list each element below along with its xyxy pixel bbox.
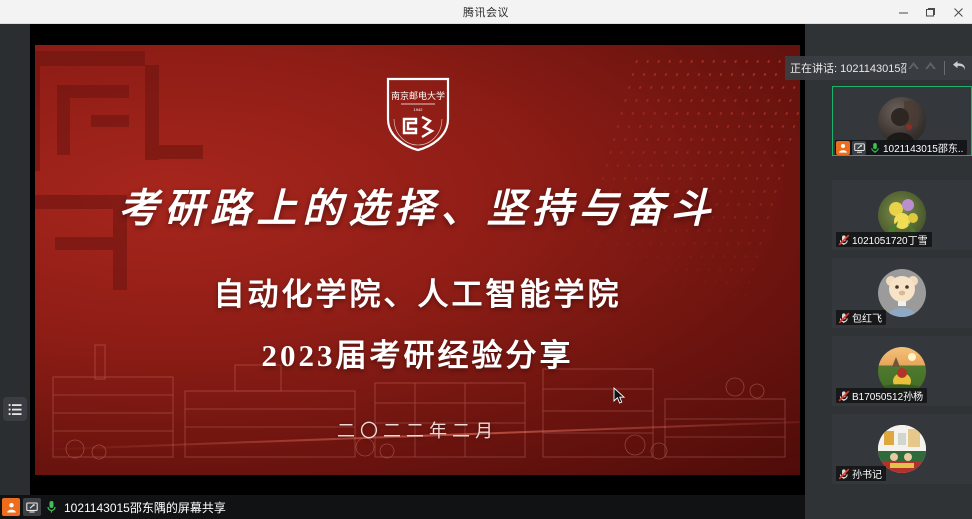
- slide-main-title: 考研路上的选择、坚持与奋斗: [35, 176, 800, 234]
- window-controls: [890, 0, 972, 24]
- chevron-icon[interactable]: [907, 59, 920, 77]
- microphone-muted-icon: [837, 389, 850, 402]
- screen-share-status-bar: 1021143015邵东隅的屏幕共享: [0, 495, 805, 519]
- microphone-icon: [868, 141, 881, 154]
- participant-name-row: 孙书记: [836, 466, 886, 481]
- speaker-bar-icons: [907, 59, 967, 77]
- slide-date: 二〇二二年二月: [35, 417, 800, 443]
- participant-tile[interactable]: 1021051720丁雪: [832, 180, 972, 250]
- participant-tile[interactable]: 1021143015邵东...: [832, 86, 972, 156]
- microphone-muted-icon: [837, 233, 850, 246]
- host-badge-icon: [836, 141, 850, 155]
- screen-share-icon: [852, 141, 866, 155]
- mouse-cursor: [613, 387, 625, 405]
- participant-name: 包红飞: [852, 310, 882, 325]
- window-title-bar: 腾讯会议: [0, 0, 972, 24]
- microphone-muted-icon: [837, 467, 850, 480]
- minimize-button[interactable]: [890, 0, 917, 24]
- slide-subtitle-school: 自动化学院、人工智能学院: [35, 269, 800, 314]
- participant-tile[interactable]: 孙书记: [832, 414, 972, 484]
- left-rail: [0, 24, 30, 519]
- svg-text:1942: 1942: [413, 107, 423, 112]
- participant-name: 1021143015邵东...: [883, 140, 963, 155]
- active-speaker-bar: 正在讲话: 1021143015邵...: [785, 56, 972, 80]
- avatar: [878, 97, 926, 145]
- divider: [944, 61, 945, 75]
- screen-share-icon: [23, 498, 41, 516]
- slide-subtitle-topic: 2023届考研经验分享: [35, 330, 800, 375]
- microphone-muted-icon: [837, 311, 850, 324]
- active-speaker-text: 正在讲话: 1021143015邵...: [790, 60, 907, 76]
- participants-panel: 正在讲话: 1021143015邵...: [805, 24, 972, 519]
- window-title: 腾讯会议: [463, 4, 509, 20]
- university-emblem: 南京邮电大学 1942: [384, 75, 452, 153]
- share-status-text: 1021143015邵东隅的屏幕共享: [64, 499, 226, 516]
- participant-name: 1021051720丁雪: [852, 232, 928, 247]
- presentation-slide: 南京邮电大学 1942 考研路上的选择、坚持与奋斗 自动化学院、人工智能学院 2…: [35, 45, 800, 475]
- shared-screen-stage[interactable]: 南京邮电大学 1942 考研路上的选择、坚持与奋斗 自动化学院、人工智能学院 2…: [30, 24, 805, 495]
- participant-name-row: 1021051720丁雪: [836, 232, 932, 247]
- microphone-icon: [44, 498, 59, 516]
- participant-tile[interactable]: B17050512孙杨: [832, 336, 972, 406]
- host-badge-icon: [2, 498, 20, 516]
- chevron-icon[interactable]: [924, 59, 937, 77]
- participant-name-row: 包红飞: [836, 310, 886, 325]
- svg-text:南京邮电大学: 南京邮电大学: [390, 90, 444, 101]
- list-panel-icon[interactable]: [3, 397, 27, 421]
- maximize-button[interactable]: [917, 0, 944, 24]
- participant-name-row: B17050512孙杨: [836, 388, 927, 403]
- participant-name-row: 1021143015邵东...: [835, 140, 967, 155]
- participant-name: 孙书记: [852, 466, 882, 481]
- participant-name: B17050512孙杨: [852, 388, 923, 403]
- participant-tile[interactable]: 包红飞: [832, 258, 972, 328]
- close-button[interactable]: [944, 0, 972, 24]
- return-arrow-icon[interactable]: [952, 59, 967, 77]
- meeting-window-body: 南京邮电大学 1942 考研路上的选择、坚持与奋斗 自动化学院、人工智能学院 2…: [0, 24, 972, 519]
